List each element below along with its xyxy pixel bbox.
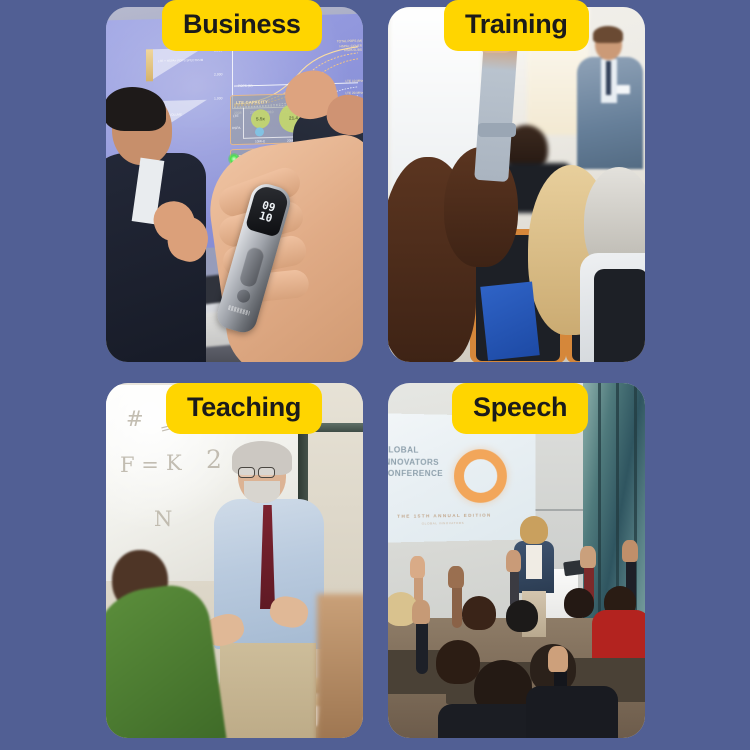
remote-laser-button[interactable] bbox=[236, 288, 252, 304]
raised-hand bbox=[580, 546, 596, 568]
teacher-glasses-right bbox=[258, 467, 275, 478]
series-label-2: HSPA SUBS bbox=[344, 48, 362, 52]
slide-title-line-1: INNOVATORS bbox=[388, 457, 439, 466]
raised-hand bbox=[412, 600, 430, 624]
photo-training bbox=[388, 7, 645, 362]
remote-brand-logo bbox=[228, 305, 251, 316]
raised-arm bbox=[452, 582, 462, 628]
equation-n: N bbox=[154, 507, 172, 531]
chart-series-legend: TOTAL POPS (M) HSPA+ COVER HSPA SUBS bbox=[337, 39, 362, 54]
panel-training[interactable] bbox=[388, 7, 645, 362]
audience-head bbox=[564, 588, 594, 618]
slide-subtitle: THE 15TH ANNUAL EDITION bbox=[397, 513, 492, 519]
slide-ring-graphic bbox=[454, 449, 507, 503]
slide-sub-subtitle: GLOBAL INNOVATORS bbox=[422, 521, 464, 526]
use-case-grid: 3,000 2,000 1,000 2008 2009 2010 2011 20… bbox=[0, 0, 750, 750]
teacher-trousers bbox=[220, 643, 316, 738]
label-business: Business bbox=[162, 0, 322, 51]
audience-body bbox=[526, 686, 618, 738]
businessman-clapping bbox=[106, 93, 222, 362]
label-training: Training bbox=[444, 0, 589, 51]
foreground-blur-post bbox=[317, 594, 363, 738]
label-speech: Speech bbox=[452, 383, 588, 434]
panel-speech[interactable]: GLOBAL INNOVATORS CONFERENCE THE 15TH AN… bbox=[388, 383, 645, 738]
funnel-bar bbox=[146, 49, 153, 81]
raised-hand bbox=[448, 566, 464, 588]
teacher bbox=[210, 447, 328, 737]
businessman-hair bbox=[106, 87, 166, 131]
raised-hand bbox=[506, 550, 521, 572]
funnel-wedge bbox=[153, 48, 203, 79]
audience-head bbox=[462, 596, 496, 630]
remote-slide-counter: 09 10 bbox=[252, 192, 283, 231]
raised-arm bbox=[416, 616, 428, 674]
audience-head bbox=[436, 640, 480, 684]
raised-hand bbox=[410, 556, 425, 578]
photo-speech: GLOBAL INNOVATORS CONFERENCE THE 15TH AN… bbox=[388, 383, 645, 738]
slide-title: GLOBAL INNOVATORS CONFERENCE bbox=[388, 444, 443, 480]
equation-f: F = bbox=[120, 453, 159, 477]
trainer-hair bbox=[593, 26, 623, 43]
remote-display-bottom: 10 bbox=[258, 210, 274, 224]
y-tick-1: 2,000 bbox=[214, 72, 223, 76]
chart-note-pops: POPS (M) bbox=[238, 84, 253, 88]
photo-business: 3,000 2,000 1,000 2008 2009 2010 2011 20… bbox=[106, 7, 363, 362]
teacher-beard bbox=[244, 481, 280, 503]
attendee-vest bbox=[594, 269, 645, 362]
panel-teaching[interactable]: # = F = K 2 N bbox=[106, 383, 363, 738]
photo-teaching: # = F = K 2 N bbox=[106, 383, 363, 738]
speaker-hair bbox=[520, 516, 548, 544]
panel-business[interactable]: 3,000 2,000 1,000 2008 2009 2010 2011 20… bbox=[106, 7, 363, 362]
blue-folder bbox=[480, 281, 539, 360]
slide-title-line-2: CONFERENCE bbox=[388, 469, 443, 478]
remote-main-button[interactable] bbox=[238, 245, 265, 288]
trainer-tie bbox=[606, 61, 611, 95]
equation-hash: # bbox=[126, 407, 144, 431]
trainer-name-badge bbox=[617, 85, 630, 94]
equation-k: K bbox=[166, 451, 182, 475]
audience bbox=[388, 558, 645, 738]
card-axis-label-lte: LTE bbox=[233, 114, 239, 118]
raised-hand bbox=[548, 646, 568, 672]
audience-head bbox=[506, 600, 538, 632]
label-teaching: Teaching bbox=[166, 383, 322, 434]
slide-title-line-0: GLOBAL bbox=[388, 445, 419, 455]
slide-funnel-widget-1: LTE + HSPA+ POPS SPECTRUM bbox=[146, 48, 206, 82]
card-axis-label-hspa: HSPA bbox=[232, 126, 240, 130]
teacher-glasses-left bbox=[238, 467, 255, 478]
trainer bbox=[577, 29, 643, 169]
sleeve-cuff bbox=[478, 123, 516, 137]
raised-hand bbox=[622, 540, 638, 562]
card-y-axis bbox=[243, 108, 244, 138]
